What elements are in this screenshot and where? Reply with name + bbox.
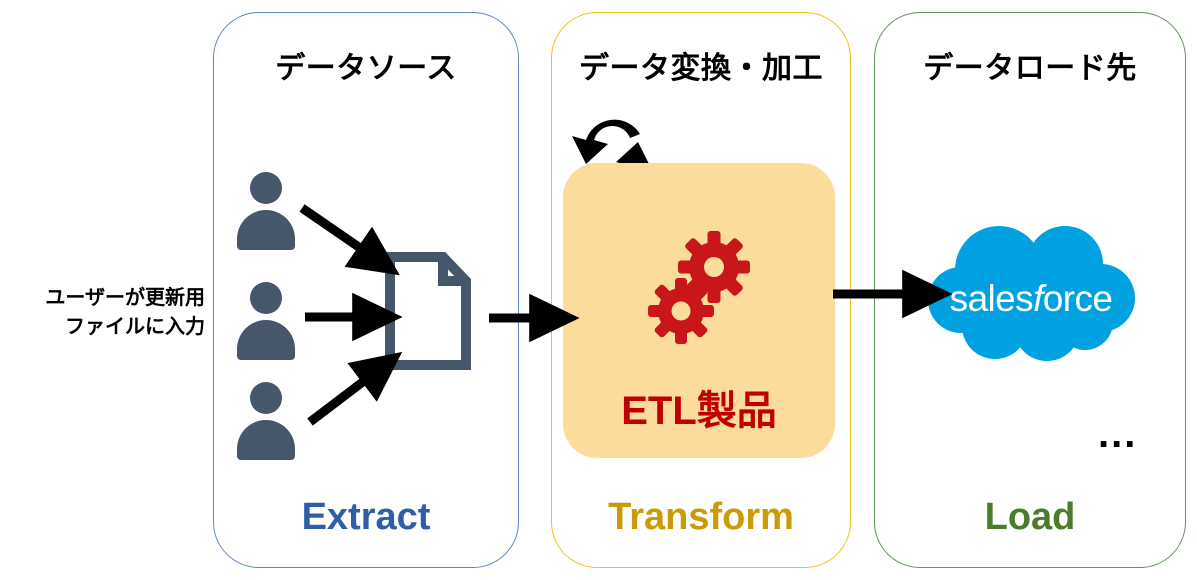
panel-extract-title: データソース: [214, 43, 518, 87]
left-caption: ユーザーが更新用 ファイルに入力: [0, 284, 205, 342]
panel-transform-title: データ変換・加工: [552, 43, 850, 87]
panel-extract-footer: Extract: [214, 496, 518, 539]
file-document-icon: [385, 252, 471, 370]
person-body-icon: [237, 320, 295, 360]
panel-load-footer: Load: [875, 496, 1185, 539]
person-body-icon: [237, 420, 295, 460]
person-icon: [237, 282, 295, 360]
etl-product-label: ETL製品: [563, 378, 835, 436]
person-body-icon: [237, 210, 295, 250]
left-caption-line1: ユーザーが更新用: [0, 284, 205, 313]
person-head-icon: [250, 172, 282, 204]
left-caption-line2: ファイルに入力: [0, 313, 205, 342]
panel-transform-footer: Transform: [552, 496, 850, 539]
more-destinations-indicator: ...: [1098, 414, 1137, 454]
diagram-canvas: データソース Extract データ変換・加工 Transform データロード…: [0, 0, 1197, 580]
person-head-icon: [250, 282, 282, 314]
person-head-icon: [250, 382, 282, 414]
person-icon: [237, 172, 295, 250]
etl-product-box: ETL製品: [563, 163, 835, 458]
salesforce-logo: salesforce: [925, 224, 1137, 364]
person-icon: [237, 382, 295, 460]
panel-load-title: データロード先: [875, 43, 1185, 87]
gears-icon: [644, 231, 754, 349]
